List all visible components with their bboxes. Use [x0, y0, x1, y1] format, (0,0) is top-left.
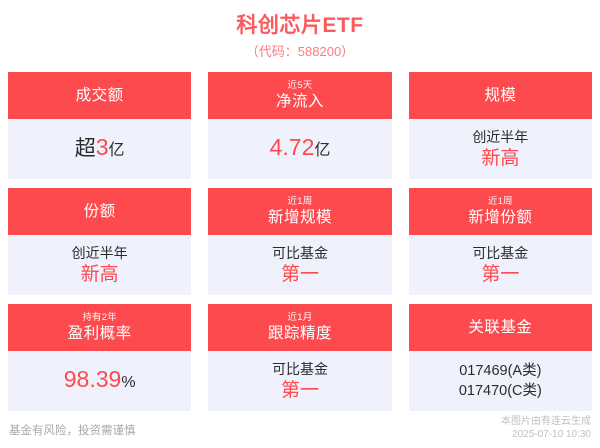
metric-card-grid: 成交额超3亿近5天净流入4.72亿规模创近半年新高份额创近半年新高近1周新增规模… — [8, 72, 592, 411]
generation-timestamp: 2025-07-10 10:30 — [501, 428, 591, 441]
metric-card-body: 超3亿 — [8, 119, 191, 179]
metric-card-body: 017469(A类)017470(C类) — [409, 351, 592, 411]
metric-card: 持有2年盈利概率98.39% — [8, 304, 191, 411]
metric-card-period-label: 近1月 — [288, 312, 313, 324]
metric-caption: 创近半年 — [472, 128, 528, 147]
metric-highlight: 新高 — [81, 263, 119, 287]
risk-disclaimer: 基金有风险，投资需谨慎 — [9, 423, 136, 441]
metric-value-unit: % — [121, 370, 135, 396]
metric-card-body: 创近半年新高 — [8, 235, 191, 295]
metric-card: 成交额超3亿 — [8, 72, 191, 179]
metric-card-body: 创近半年新高 — [409, 119, 592, 179]
metric-value-prefix: 超 — [75, 136, 96, 162]
metric-card-body: 可比基金第一 — [208, 351, 391, 411]
metric-card-title: 盈利概率 — [68, 324, 132, 343]
page-title: 科创芯片ETF — [0, 12, 600, 40]
metric-caption: 可比基金 — [272, 244, 328, 263]
metric-card-header: 近5天净流入 — [208, 72, 391, 119]
metric-caption: 可比基金 — [272, 360, 328, 379]
related-fund-code-c: 017470(C类) — [459, 381, 542, 401]
metric-card-title: 净流入 — [276, 92, 324, 111]
metric-value: 超3亿 — [75, 134, 125, 164]
metric-card-header: 关联基金 — [409, 304, 592, 351]
metric-card-header: 份额 — [8, 188, 191, 235]
metric-highlight: 第一 — [481, 263, 519, 287]
metric-value-number: 98.39 — [64, 366, 122, 392]
metric-card-title: 关联基金 — [468, 318, 532, 337]
metric-card-body: 98.39% — [8, 351, 191, 411]
metric-card: 近1月跟踪精度可比基金第一 — [208, 304, 391, 411]
metric-card: 份额创近半年新高 — [8, 188, 191, 295]
related-fund-code-a: 017469(A类) — [459, 361, 541, 381]
page-footer: 基金有风险，投资需谨慎 本图片由有连云生成 2025-07-10 10:30 — [0, 407, 600, 441]
generation-source: 本图片由有连云生成 — [501, 415, 591, 428]
metric-card: 近5天净流入4.72亿 — [208, 72, 391, 179]
metric-card-title: 规模 — [484, 86, 516, 105]
metric-card-title: 成交额 — [76, 86, 124, 105]
metric-value: 4.72亿 — [270, 134, 331, 164]
metric-card-body: 4.72亿 — [208, 119, 391, 179]
metric-card-title: 新增规模 — [268, 208, 332, 227]
metric-card-header: 成交额 — [8, 72, 191, 119]
metric-card: 近1周新增份额可比基金第一 — [409, 188, 592, 295]
metric-value-unit: 亿 — [109, 138, 125, 164]
metric-card-title: 份额 — [84, 202, 116, 221]
metric-card-header: 近1月跟踪精度 — [208, 304, 391, 351]
metric-card: 规模创近半年新高 — [409, 72, 592, 179]
generation-info: 本图片由有连云生成 2025-07-10 10:30 — [501, 415, 591, 441]
metric-card-header: 持有2年盈利概率 — [8, 304, 191, 351]
metric-value-number: 3 — [96, 134, 109, 160]
metric-card-header: 近1周新增规模 — [208, 188, 391, 235]
metric-card-header: 近1周新增份额 — [409, 188, 592, 235]
metric-card: 关联基金017469(A类)017470(C类) — [409, 304, 592, 411]
fund-code-subtitle: （代码：588200） — [0, 41, 600, 63]
metric-value-unit: 亿 — [314, 138, 330, 164]
metric-caption: 可比基金 — [472, 244, 528, 263]
metric-card-period-label: 近1周 — [488, 196, 513, 208]
metric-card-period-label: 近1周 — [288, 196, 313, 208]
metric-card-header: 规模 — [409, 72, 592, 119]
metric-value: 98.39% — [64, 366, 136, 396]
metric-card-body: 可比基金第一 — [409, 235, 592, 295]
metric-card-period-label: 近5天 — [288, 80, 313, 92]
metric-highlight: 第一 — [281, 263, 319, 287]
metric-caption: 创近半年 — [72, 244, 128, 263]
metric-card-body: 可比基金第一 — [208, 235, 391, 295]
metric-card-period-label: 持有2年 — [82, 312, 117, 324]
metric-value-number: 4.72 — [270, 134, 315, 160]
page-header: 科创芯片ETF （代码：588200） — [0, 0, 600, 63]
metric-card-title: 新增份额 — [468, 208, 532, 227]
metric-highlight: 新高 — [481, 147, 519, 171]
metric-highlight: 第一 — [281, 379, 319, 403]
metric-card: 近1周新增规模可比基金第一 — [208, 188, 391, 295]
metric-card-title: 跟踪精度 — [268, 324, 332, 343]
